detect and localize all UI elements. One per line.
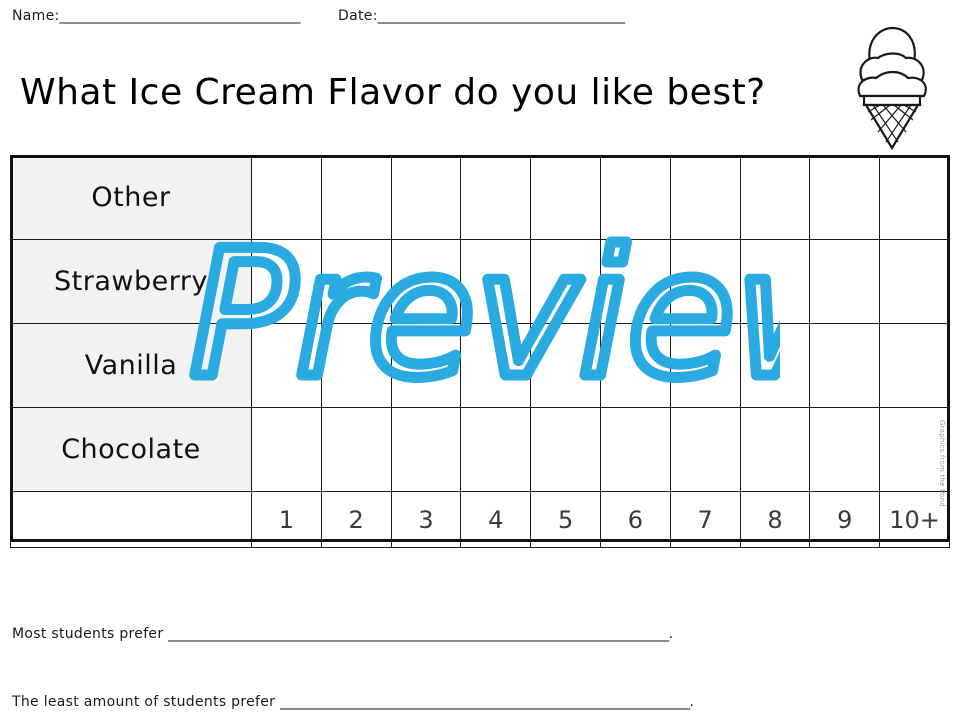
cell-vanilla-10[interactable]: [880, 324, 950, 408]
cell-chocolate-3[interactable]: [391, 408, 461, 492]
cell-strawberry-2[interactable]: [321, 240, 391, 324]
cell-other-1[interactable]: [252, 156, 322, 240]
ice-cream-cone-icon: [836, 22, 946, 154]
prompt-least-label: The least amount of students prefer: [12, 694, 275, 710]
axis-corner-cell: [11, 492, 252, 548]
date-label: Date:: [338, 8, 378, 24]
name-write-line[interactable]: _____________________________________: [60, 8, 301, 24]
header-name-date-line: Name: __________________________________…: [12, 8, 948, 24]
cell-strawberry-5[interactable]: [531, 240, 601, 324]
axis-tick-1: 1: [252, 492, 322, 548]
cell-vanilla-4[interactable]: [461, 324, 531, 408]
cell-chocolate-9[interactable]: [810, 408, 880, 492]
cell-other-8[interactable]: [740, 156, 810, 240]
cell-strawberry-7[interactable]: [670, 240, 740, 324]
cell-vanilla-8[interactable]: [740, 324, 810, 408]
page-title: What Ice Cream Flavor do you like best?: [20, 72, 766, 113]
cell-vanilla-6[interactable]: [600, 324, 670, 408]
cell-other-9[interactable]: [810, 156, 880, 240]
row-label-other: Other: [11, 156, 252, 240]
prompt-most-write-line[interactable]: ________________________________________…: [168, 626, 672, 642]
cell-chocolate-8[interactable]: [740, 408, 810, 492]
flavor-tally-chart: Other Strawberry Vanilla: [10, 155, 950, 548]
cell-chocolate-2[interactable]: [321, 408, 391, 492]
cell-other-10[interactable]: [880, 156, 950, 240]
cell-strawberry-9[interactable]: [810, 240, 880, 324]
axis-tick-9: 9: [810, 492, 880, 548]
cell-vanilla-3[interactable]: [391, 324, 461, 408]
table-row: Other: [11, 156, 950, 240]
axis-tick-2: 2: [321, 492, 391, 548]
cell-strawberry-8[interactable]: [740, 240, 810, 324]
cell-other-3[interactable]: [391, 156, 461, 240]
chart-body: Other Strawberry Vanilla: [11, 156, 950, 548]
cell-chocolate-6[interactable]: [600, 408, 670, 492]
cell-strawberry-10[interactable]: [880, 240, 950, 324]
cell-other-5[interactable]: [531, 156, 601, 240]
cell-strawberry-1[interactable]: [252, 240, 322, 324]
table-row: Vanilla: [11, 324, 950, 408]
row-label-vanilla: Vanilla: [11, 324, 252, 408]
cell-vanilla-1[interactable]: [252, 324, 322, 408]
cell-other-2[interactable]: [321, 156, 391, 240]
cell-other-4[interactable]: [461, 156, 531, 240]
cell-chocolate-5[interactable]: [531, 408, 601, 492]
cell-other-7[interactable]: [670, 156, 740, 240]
name-label: Name:: [12, 8, 60, 24]
prompt-least-students: The least amount of students prefer ____…: [12, 694, 693, 710]
axis-tick-6: 6: [600, 492, 670, 548]
cell-chocolate-1[interactable]: [252, 408, 322, 492]
side-credit-text: Graphics from the Pond: [938, 420, 946, 507]
row-label-chocolate: Chocolate: [11, 408, 252, 492]
axis-tick-7: 7: [670, 492, 740, 548]
cell-vanilla-9[interactable]: [810, 324, 880, 408]
axis-tick-5: 5: [531, 492, 601, 548]
axis-tick-8: 8: [740, 492, 810, 548]
cell-vanilla-7[interactable]: [670, 324, 740, 408]
cell-strawberry-3[interactable]: [391, 240, 461, 324]
axis-row: 1 2 3 4 5 6 7 8 9 10+: [11, 492, 950, 548]
table-row: Strawberry: [11, 240, 950, 324]
cell-chocolate-4[interactable]: [461, 408, 531, 492]
date-write-line[interactable]: ______________________________________: [378, 8, 625, 24]
row-label-strawberry: Strawberry: [11, 240, 252, 324]
cell-strawberry-6[interactable]: [600, 240, 670, 324]
cell-chocolate-7[interactable]: [670, 408, 740, 492]
axis-tick-4: 4: [461, 492, 531, 548]
prompt-most-label: Most students prefer: [12, 626, 163, 642]
cell-strawberry-4[interactable]: [461, 240, 531, 324]
axis-tick-3: 3: [391, 492, 461, 548]
table-row: Chocolate: [11, 408, 950, 492]
prompt-least-write-line[interactable]: ________________________________________…: [280, 694, 693, 710]
cell-other-6[interactable]: [600, 156, 670, 240]
cell-vanilla-5[interactable]: [531, 324, 601, 408]
cell-vanilla-2[interactable]: [321, 324, 391, 408]
prompt-most-students: Most students prefer ___________________…: [12, 626, 673, 642]
